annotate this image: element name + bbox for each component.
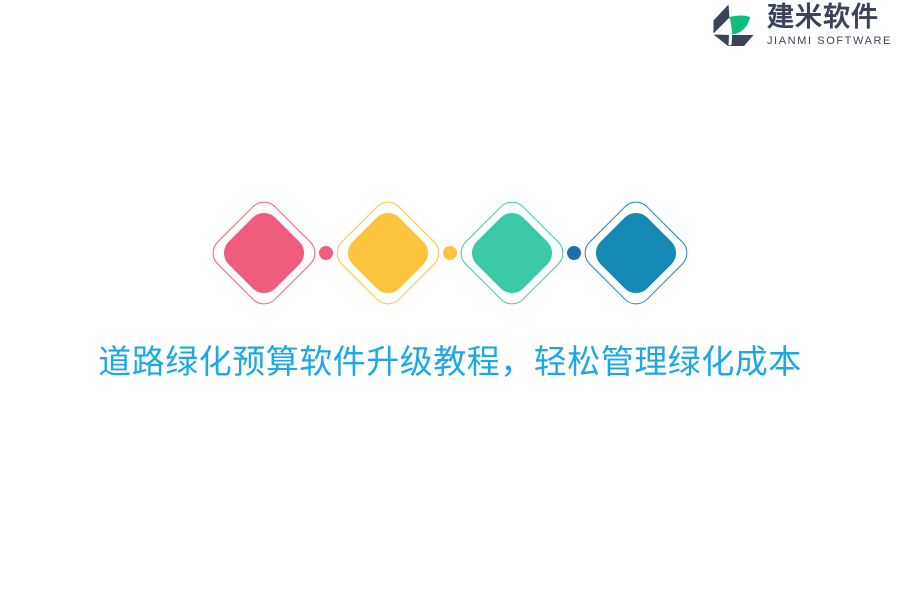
- connector-dot-1: [319, 246, 333, 260]
- connector-dot-3: [567, 246, 581, 260]
- four-diamond-process-graphic: [0, 192, 900, 314]
- diamond-item-3: [453, 194, 571, 312]
- diamond-fill-1: [217, 206, 310, 299]
- page-root: 建米软件 JIANMI SOFTWARE 道路绿化预算软件升级教程，轻松管理绿化…: [0, 0, 900, 600]
- diamond-fill-2: [341, 206, 434, 299]
- connector-dot-2: [443, 246, 457, 260]
- diamond-fill-4: [589, 206, 682, 299]
- brand-name-cn: 建米软件: [767, 3, 892, 31]
- brand-logo: 建米软件 JIANMI SOFTWARE: [709, 0, 892, 50]
- brand-name-en: JIANMI SOFTWARE: [767, 36, 892, 47]
- diamond-item-1: [205, 194, 323, 312]
- page-title: 道路绿化预算软件升级教程，轻松管理绿化成本: [0, 340, 900, 385]
- brand-text-block: 建米软件 JIANMI SOFTWARE: [767, 3, 892, 46]
- diamond-item-2: [329, 194, 447, 312]
- diamond-item-4: [577, 194, 695, 312]
- jianmi-leaf-logo-icon: [709, 3, 757, 47]
- diamond-fill-3: [465, 206, 558, 299]
